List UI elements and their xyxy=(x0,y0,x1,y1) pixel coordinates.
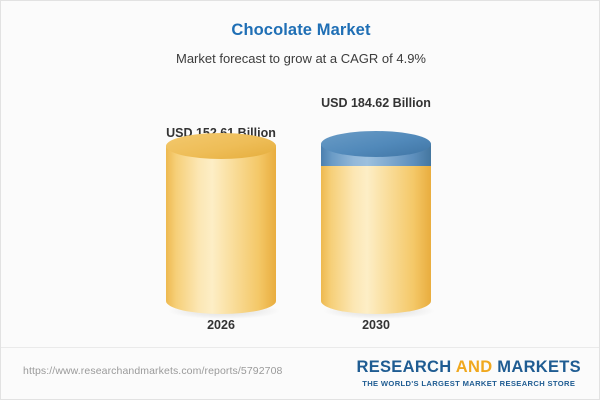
bar-cylinder-2026 xyxy=(166,146,276,314)
bar-value-label-2030: USD 184.62 Billion xyxy=(296,96,456,110)
logo-tagline: THE WORLD'S LARGEST MARKET RESEARCH STOR… xyxy=(356,377,581,388)
bar-cylinder-2030 xyxy=(321,123,431,314)
bar-group-2026: USD 152.61 Billion 2026 xyxy=(141,1,301,349)
chart-footer: https://www.researchandmarkets.com/repor… xyxy=(1,347,600,399)
bar-group-2030: USD 184.62 Billion 2030 xyxy=(296,1,456,349)
bar-cap-2026 xyxy=(166,133,276,159)
research-and-markets-logo[interactable]: RESEARCH AND MARKETS THE WORLD'S LARGEST… xyxy=(356,358,581,388)
category-label-2026: 2026 xyxy=(141,318,301,332)
bar-cap-2030 xyxy=(321,131,431,157)
chart-card: Chocolate Market Market forecast to grow… xyxy=(0,0,600,400)
plot-area: USD 152.61 Billion 2026 USD 184.62 Billi… xyxy=(1,1,600,349)
logo-word-markets: MARKETS xyxy=(492,358,581,376)
logo-word-research: RESEARCH xyxy=(356,358,455,376)
logo-wordmark: RESEARCH AND MARKETS xyxy=(356,358,581,377)
category-label-2030: 2030 xyxy=(296,318,456,332)
bar-segment-base-2030 xyxy=(321,166,431,314)
source-url[interactable]: https://www.researchandmarkets.com/repor… xyxy=(23,365,282,377)
logo-word-and: AND xyxy=(456,358,493,376)
bar-segment-base-2026 xyxy=(166,146,276,314)
